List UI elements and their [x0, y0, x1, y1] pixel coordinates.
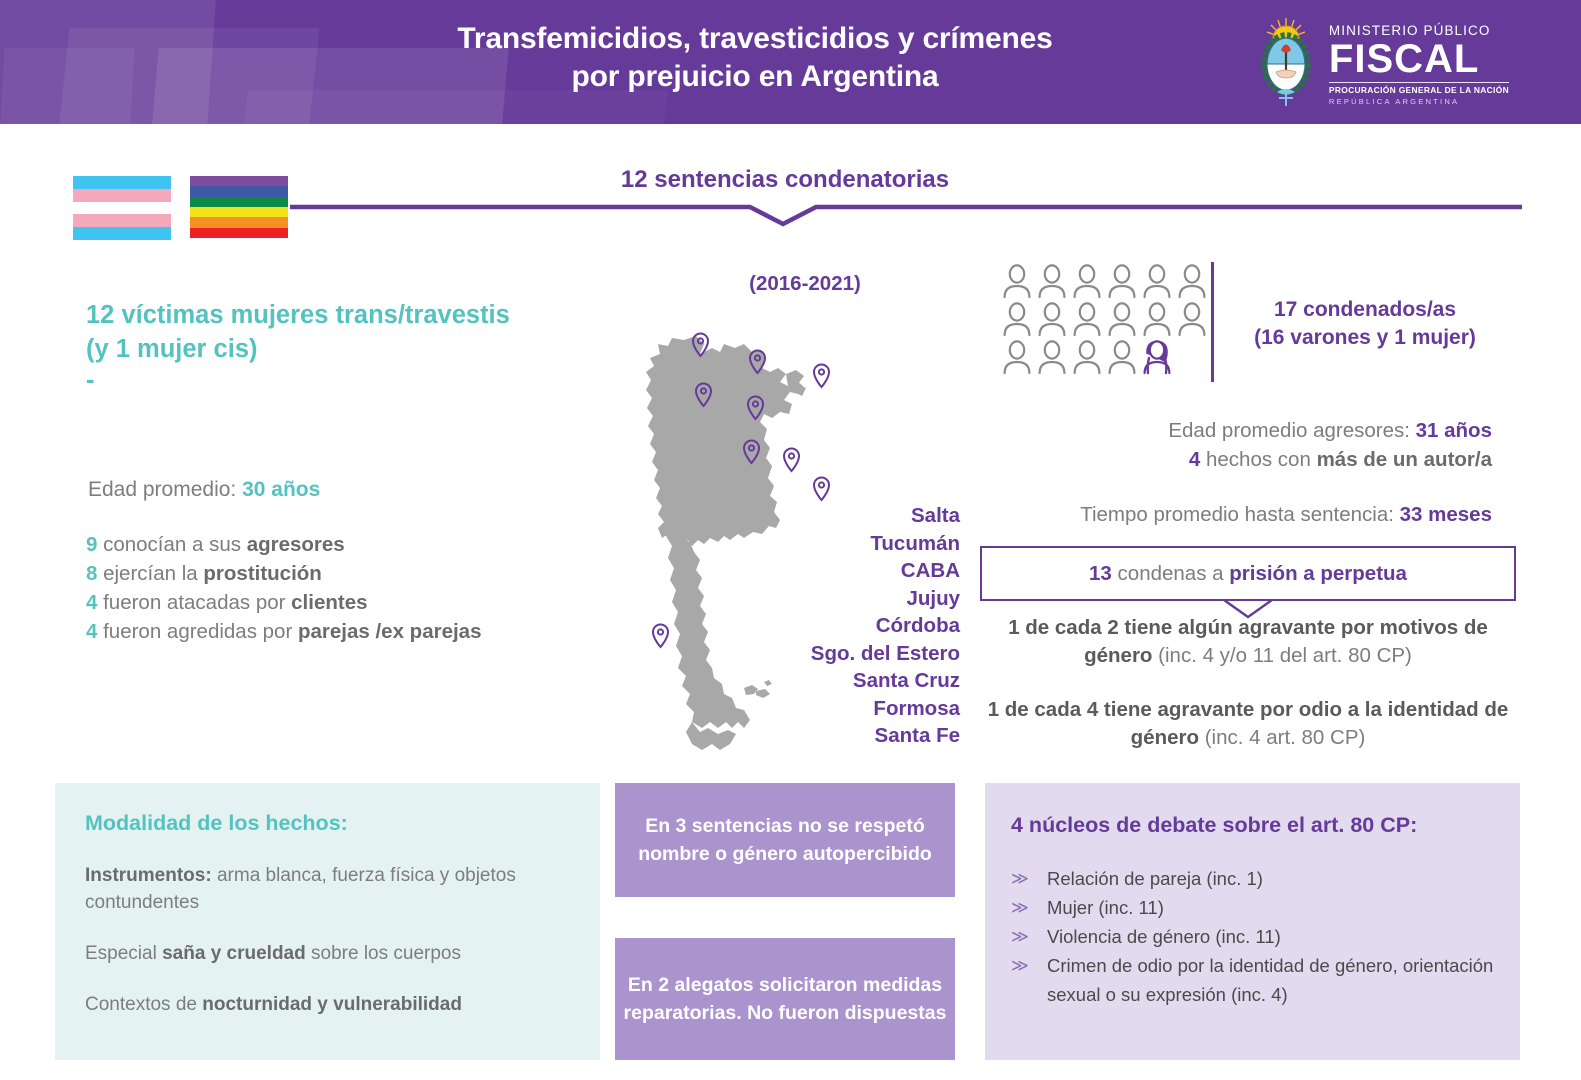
- modality-context-bold: nocturnidad y vulnerabilidad: [202, 994, 462, 1015]
- victims-fact-list: 9 conocían a sus agresores8 ejercían la …: [86, 530, 606, 646]
- life-sentence-bold: prisión a perpetua: [1229, 562, 1407, 585]
- victims-fact-item: 9 conocían a sus agresores: [86, 530, 606, 559]
- trans-flag-stripe-5: [73, 227, 171, 240]
- rainbow-pride-flag-icon: [190, 176, 288, 238]
- argentina-coat-of-arms-icon: [1255, 16, 1317, 113]
- victims-fact-item: 4 fueron atacadas por clientes: [86, 588, 606, 617]
- province-name: Formosa: [700, 695, 960, 723]
- aggressor-average-age-label: Edad promedio agresores:: [1168, 419, 1415, 442]
- victims-heading-line-1: 12 víctimas mujeres trans/travestis: [86, 298, 606, 332]
- reparations-box: En 2 alegatos solicitaron medidas repara…: [615, 938, 955, 1060]
- debate-nuclei-list: ≫Relación de pareja (inc. 1)≫Mujer (inc.…: [1011, 864, 1494, 1009]
- victims-fact-bold: parejas /ex parejas: [298, 620, 482, 643]
- victims-fact-item: 4 fueron agredidas por parejas /ex parej…: [86, 617, 606, 646]
- infographic-page: Transfemicidios, travesticidios y crímen…: [0, 0, 1581, 1080]
- victims-fact-bold: agresores: [247, 533, 345, 556]
- person-icon: [1070, 262, 1104, 300]
- pride-flag-stripe-6: [190, 228, 288, 238]
- page-title-line-1: Transfemicidios, travesticidios y crímen…: [250, 20, 1260, 58]
- condemned-people-pictogram: [1000, 262, 1209, 376]
- province-name: Santa Fe: [700, 722, 960, 750]
- aggressor-average-age-value: 31 años: [1416, 419, 1492, 442]
- person-icon: [1140, 262, 1174, 300]
- province-name: Tucumán: [700, 530, 960, 558]
- province-name: Jujuy: [700, 585, 960, 613]
- double-chevron-right-icon: ≫: [1011, 864, 1033, 893]
- debate-nuclei-item-label: Crimen de odio por la identidad de géner…: [1047, 951, 1494, 1009]
- map-pin-8: [814, 478, 829, 501]
- victims-heading-line-2: (y 1 mujer cis): [86, 332, 606, 366]
- person-icon: [1035, 262, 1069, 300]
- logo-line-1: MINISTERIO PÚBLICO: [1329, 24, 1509, 38]
- double-chevron-right-icon: ≫: [1011, 951, 1033, 1009]
- reparations-text: En 2 alegatos solicitaron medidas repara…: [615, 971, 955, 1027]
- debate-nuclei-item: ≫Crimen de odio por la identidad de géne…: [1011, 951, 1494, 1009]
- double-chevron-right-icon: ≫: [1011, 922, 1033, 951]
- multi-author-count: 4: [1189, 448, 1200, 471]
- province-name: Sgo. del Estero: [700, 640, 960, 668]
- aggressor-average-age: Edad promedio agresores: 31 años: [980, 416, 1492, 445]
- victims-fact-bold: prostitución: [203, 562, 321, 585]
- average-time-to-sentence: Tiempo promedio hasta sentencia: 33 mese…: [980, 503, 1492, 527]
- aggravating-factor-2-rest: (inc. 4 art. 80 CP): [1199, 726, 1365, 749]
- modality-title: Modalidad de los hechos:: [85, 811, 570, 836]
- map-year-range: (2016-2021): [640, 272, 970, 296]
- trans-flag-stripe-4: [73, 214, 171, 227]
- victims-fact-count: 9: [86, 533, 97, 556]
- aggravating-factors: 1 de cada 2 tiene algún agravante por mo…: [980, 614, 1516, 752]
- trans-flag-stripe-1: [73, 176, 171, 189]
- modality-cruelty-bold: saña y crueldad: [162, 943, 306, 964]
- modality-cruelty: Especial saña y crueldad sobre los cuerp…: [85, 940, 570, 967]
- debate-nuclei-item: ≫Relación de pareja (inc. 1): [1011, 864, 1494, 893]
- person-icon: [1035, 338, 1069, 376]
- person-icon: [1105, 338, 1139, 376]
- life-sentence-count: 13: [1089, 562, 1112, 585]
- map-pin-3: [814, 365, 829, 388]
- map-pin-7: [784, 449, 799, 472]
- person-icon: [1000, 300, 1034, 338]
- modality-instruments: Instrumentos: arma blanca, fuerza física…: [85, 862, 570, 916]
- logo-line-3: PROCURACIÓN GENERAL DE LA NACIÓN: [1329, 82, 1509, 94]
- life-sentence-text: condenas a: [1112, 562, 1229, 585]
- aggravating-factor-1: 1 de cada 2 tiene algún agravante por mo…: [980, 614, 1516, 670]
- debate-nuclei-item: ≫Mujer (inc. 11): [1011, 893, 1494, 922]
- life-sentence-box: 13 condenas a prisión a perpetua: [980, 546, 1516, 601]
- pride-flag-stripe-1: [190, 176, 288, 186]
- victims-fact-item: 8 ejercían la prostitución: [86, 559, 606, 588]
- province-name: Salta: [700, 502, 960, 530]
- person-icon: [1035, 300, 1069, 338]
- victims-fact-count: 4: [86, 620, 97, 643]
- province-name: Córdoba: [700, 612, 960, 640]
- average-time-label: Tiempo promedio hasta sentencia:: [1080, 503, 1399, 526]
- person-icon: [1140, 300, 1174, 338]
- modality-context: Contextos de nocturnidad y vulnerabilida…: [85, 991, 570, 1018]
- victims-heading: 12 víctimas mujeres trans/travestis (y 1…: [86, 298, 606, 366]
- province-name: CABA: [700, 557, 960, 585]
- pride-flag-stripe-2: [190, 186, 288, 196]
- person-icon: [1070, 300, 1104, 338]
- victims-average-age-value: 30 años: [242, 478, 320, 501]
- debate-nuclei-item-label: Violencia de género (inc. 11): [1047, 922, 1281, 951]
- modality-instruments-label: Instrumentos:: [85, 865, 212, 886]
- pride-flag-stripe-3: [190, 197, 288, 207]
- average-time-value: 33 meses: [1400, 503, 1492, 526]
- condemned-label: 17 condenados/as (16 varones y 1 mujer): [1230, 296, 1500, 352]
- trans-flag-stripe-2: [73, 189, 171, 202]
- victims-dash: -: [86, 366, 95, 395]
- pictogram-divider: [1211, 262, 1214, 382]
- debate-nuclei-box: 4 núcleos de debate sobre el art. 80 CP:…: [985, 783, 1520, 1060]
- unrespected-identity-box: En 3 sentencias no se respetó nombre o g…: [615, 783, 955, 897]
- person-icon: [1000, 262, 1034, 300]
- aggravating-factor-2: 1 de cada 4 tiene agravante por odio a l…: [980, 696, 1516, 752]
- debate-nuclei-item-label: Relación de pareja (inc. 1): [1047, 864, 1263, 893]
- map-pin-9: [653, 625, 668, 648]
- page-title-line-2: por prejuicio en Argentina: [250, 58, 1260, 96]
- debate-nuclei-item: ≫Violencia de género (inc. 11): [1011, 922, 1494, 951]
- province-list: SaltaTucumánCABAJujuyCórdobaSgo. del Est…: [700, 502, 960, 750]
- province-name: Santa Cruz: [700, 667, 960, 695]
- trans-pride-flag-icon: [73, 176, 171, 238]
- person-icon: [1175, 262, 1209, 300]
- ministerio-publico-fiscal-logo: MINISTERIO PÚBLICO FISCAL PROCURACIÓN GE…: [1255, 16, 1509, 113]
- page-title: Transfemicidios, travesticidios y crímen…: [250, 20, 1260, 96]
- person-icon: [1070, 338, 1104, 376]
- pride-flag-stripe-5: [190, 217, 288, 227]
- victims-fact-count: 8: [86, 562, 97, 585]
- page-header: Transfemicidios, travesticidios y crímen…: [0, 0, 1581, 124]
- modality-cruelty-pre: Especial: [85, 943, 162, 964]
- modality-context-pre: Contextos de: [85, 994, 202, 1015]
- person-icon: [1175, 300, 1209, 338]
- victims-fact-bold: clientes: [291, 591, 367, 614]
- logo-line-2: FISCAL: [1329, 39, 1509, 79]
- person-icon: [1000, 338, 1034, 376]
- multi-author-bold: más de un autor/a: [1317, 448, 1492, 471]
- person-icon: [1105, 262, 1139, 300]
- double-chevron-right-icon: ≫: [1011, 893, 1033, 922]
- multi-author-line: 4 hechos con más de un autor/a: [980, 445, 1492, 474]
- person-icon: [1105, 300, 1139, 338]
- condemned-label-line-2: (16 varones y 1 mujer): [1230, 324, 1500, 352]
- modality-cruelty-post: sobre los cuerpos: [306, 943, 461, 964]
- debate-nuclei-item-label: Mujer (inc. 11): [1047, 893, 1164, 922]
- trans-flag-stripe-3: [73, 202, 171, 215]
- victims-average-age-label: Edad promedio:: [88, 478, 242, 501]
- aggressor-stats: Edad promedio agresores: 31 años 4 hecho…: [980, 416, 1492, 474]
- person-icon-highlighted: [1140, 338, 1174, 376]
- modality-box: Modalidad de los hechos: Instrumentos: a…: [55, 783, 600, 1060]
- sentences-heading: 12 sentencias condenatorias: [495, 166, 1075, 194]
- logo-line-4: REPÚBLICA ARGENTINA: [1329, 98, 1509, 106]
- heading-divider-rule: [290, 198, 1522, 228]
- condemned-label-line-1: 17 condenados/as: [1230, 296, 1500, 324]
- debate-nuclei-title: 4 núcleos de debate sobre el art. 80 CP:: [1011, 813, 1494, 838]
- logo-wordmark: MINISTERIO PÚBLICO FISCAL PROCURACIÓN GE…: [1329, 24, 1509, 106]
- multi-author-text: hechos con: [1200, 448, 1316, 471]
- unrespected-identity-text: En 3 sentencias no se respetó nombre o g…: [615, 812, 955, 868]
- pride-flag-stripe-4: [190, 207, 288, 217]
- victims-fact-count: 4: [86, 591, 97, 614]
- aggravating-factor-1-rest: (inc. 4 y/o 11 del art. 80 CP): [1152, 644, 1411, 667]
- victims-average-age: Edad promedio: 30 años: [88, 478, 320, 502]
